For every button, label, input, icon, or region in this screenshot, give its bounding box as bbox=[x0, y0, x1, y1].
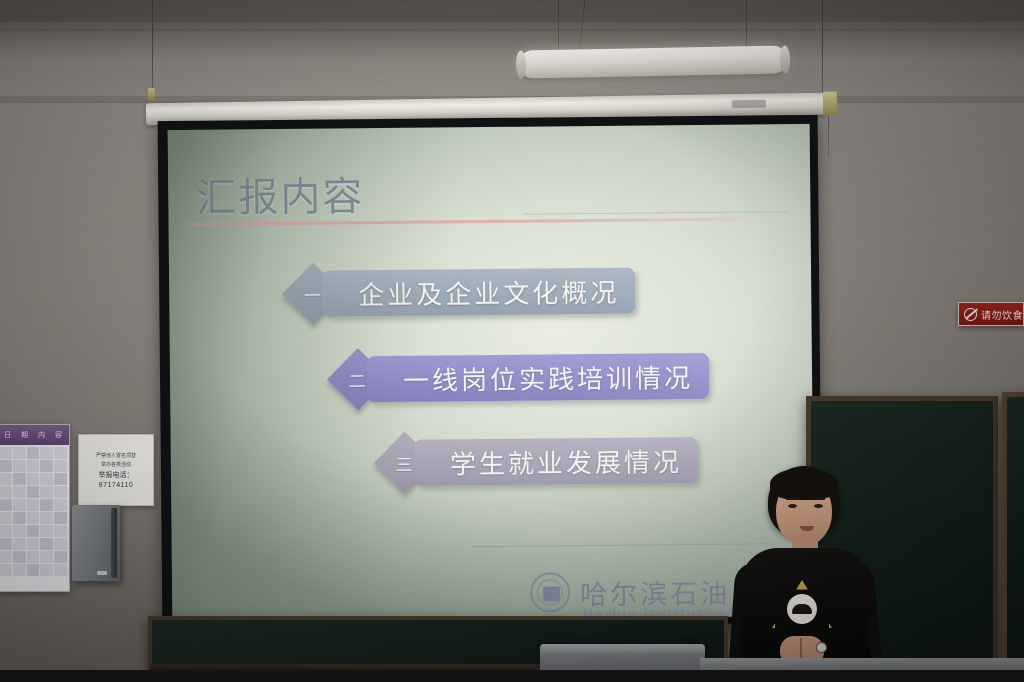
poster-cell bbox=[40, 486, 53, 498]
poster-cell bbox=[0, 460, 12, 472]
poster-cell bbox=[0, 499, 12, 511]
poster-cell bbox=[54, 499, 67, 511]
hanging-wire-left bbox=[152, 0, 153, 98]
poster-cell bbox=[0, 564, 12, 576]
schedule-poster: 日 期 内 容 bbox=[0, 424, 70, 592]
roller-badge bbox=[732, 100, 766, 109]
schedule-poster-grid bbox=[0, 445, 69, 578]
slide-item-2-bar: 一线岗位实践培训情况 bbox=[367, 353, 709, 402]
poster-cell bbox=[0, 525, 12, 537]
slide-item-2-number: 二 bbox=[349, 367, 367, 392]
presenter-eyebrow-right bbox=[812, 498, 825, 500]
poster-cell bbox=[27, 473, 40, 485]
slide-item-1: 一 企业及企业文化概况 bbox=[291, 268, 635, 317]
poster-cell bbox=[13, 551, 26, 563]
notice-line-3: 举报电话： bbox=[99, 470, 134, 480]
poster-cell bbox=[40, 447, 53, 459]
poster-cell bbox=[27, 447, 40, 459]
notice-line-2: 举办各类活动 bbox=[101, 461, 131, 468]
schedule-poster-header: 日 期 内 容 bbox=[0, 425, 69, 445]
poster-cell bbox=[13, 525, 26, 537]
presenter-eyebrow-left bbox=[786, 498, 799, 500]
poster-cell bbox=[40, 564, 53, 576]
poster-cell bbox=[40, 499, 53, 511]
chalkboard-right-edge bbox=[1002, 392, 1024, 682]
presenter-hair-fringe bbox=[770, 468, 838, 500]
slide-item-3-number: 三 bbox=[396, 450, 414, 475]
poster-cell bbox=[54, 512, 67, 524]
roller-end-cap bbox=[823, 91, 837, 115]
poster-cell bbox=[27, 538, 40, 550]
slide-title: 汇报内容 bbox=[196, 164, 365, 224]
slide-item-1-bar: 企业及企业文化概况 bbox=[322, 268, 635, 317]
poster-header-cell: 容 bbox=[55, 430, 62, 440]
slide-item-2-label: 一线岗位实践培训情况 bbox=[403, 358, 693, 398]
poster-cell bbox=[40, 460, 53, 472]
podium-top-surface bbox=[540, 644, 705, 652]
poster-cell bbox=[40, 512, 53, 524]
slide-item-3-bar: 学生就业发展情况 bbox=[414, 437, 698, 486]
lamp-cap-left bbox=[516, 50, 527, 78]
hanging-wire-lamp-left bbox=[558, 0, 559, 52]
notice-line-1: 严禁他人冒名顶替 bbox=[96, 452, 136, 459]
poster-cell bbox=[13, 538, 26, 550]
poster-cell bbox=[54, 551, 67, 563]
poster-cell bbox=[54, 447, 67, 459]
poster-cell bbox=[27, 460, 40, 472]
no-eating-sign-text: 请勿饮食 bbox=[981, 307, 1023, 322]
classroom-scene: 汇报内容 一 企业及企业文化概况 二 bbox=[0, 0, 1024, 682]
poster-cell bbox=[13, 499, 26, 511]
poster-cell bbox=[27, 512, 40, 524]
slide-item-1-number: 一 bbox=[304, 281, 322, 306]
poster-cell bbox=[0, 473, 12, 485]
poster-cell bbox=[27, 551, 40, 563]
poster-header-cell: 日 bbox=[4, 430, 11, 440]
shirt-graphic bbox=[770, 578, 834, 636]
poster-cell bbox=[13, 486, 26, 498]
shirt-emblem-icon bbox=[787, 594, 817, 624]
poster-cell bbox=[0, 447, 12, 459]
presenter-eye-left bbox=[788, 504, 797, 508]
prohibition-icon bbox=[964, 308, 977, 321]
poster-cell bbox=[13, 512, 26, 524]
title-underline-thin bbox=[523, 211, 788, 215]
lamp-cap-right bbox=[780, 45, 791, 73]
poster-cell bbox=[0, 512, 12, 524]
no-eating-sign: 请勿饮食 bbox=[958, 302, 1024, 326]
poster-cell bbox=[40, 525, 53, 537]
poster-cell bbox=[13, 460, 26, 472]
floor-shadow bbox=[0, 670, 1024, 682]
hanging-wire-far-right bbox=[828, 112, 829, 158]
presenter-wristwatch bbox=[816, 642, 827, 653]
wall-box-indicator bbox=[97, 571, 107, 575]
ceiling-beam-upper bbox=[0, 22, 1024, 31]
poster-cell bbox=[40, 538, 53, 550]
wall-notice: 严禁他人冒名顶替 举办各类活动 举报电话： 87174110 bbox=[78, 434, 154, 506]
poster-cell bbox=[54, 486, 67, 498]
poster-cell bbox=[13, 564, 26, 576]
poster-cell bbox=[13, 473, 26, 485]
poster-cell bbox=[54, 525, 67, 537]
poster-header-cell: 内 bbox=[38, 430, 45, 440]
poster-cell bbox=[27, 525, 40, 537]
wire-hook-left bbox=[148, 88, 155, 101]
slide-item-3: 三 学生就业发展情况 bbox=[383, 437, 698, 486]
poster-cell bbox=[54, 460, 67, 472]
poster-cell bbox=[40, 551, 53, 563]
poster-cell bbox=[54, 473, 67, 485]
slide-item-2: 二 一线岗位实践培训情况 bbox=[336, 353, 709, 403]
logo-seal-icon bbox=[530, 572, 570, 612]
poster-cell bbox=[27, 499, 40, 511]
poster-cell bbox=[0, 486, 12, 498]
poster-cell bbox=[13, 447, 26, 459]
poster-cell bbox=[0, 551, 12, 563]
poster-cell bbox=[27, 564, 40, 576]
poster-cell bbox=[54, 564, 67, 576]
wall-mounted-box[interactable] bbox=[72, 505, 120, 581]
poster-cell bbox=[40, 473, 53, 485]
slide-item-1-label: 企业及企业文化概况 bbox=[358, 272, 619, 312]
notice-phone-number: 87174110 bbox=[99, 482, 134, 489]
presenter bbox=[718, 466, 890, 682]
poster-cell bbox=[54, 538, 67, 550]
slide-item-3-label: 学生就业发展情况 bbox=[450, 442, 682, 481]
poster-cell bbox=[0, 538, 12, 550]
poster-cell bbox=[27, 486, 40, 498]
presenter-eye-right bbox=[814, 504, 823, 508]
fluorescent-lamp bbox=[519, 45, 787, 78]
poster-header-cell: 期 bbox=[21, 430, 28, 440]
